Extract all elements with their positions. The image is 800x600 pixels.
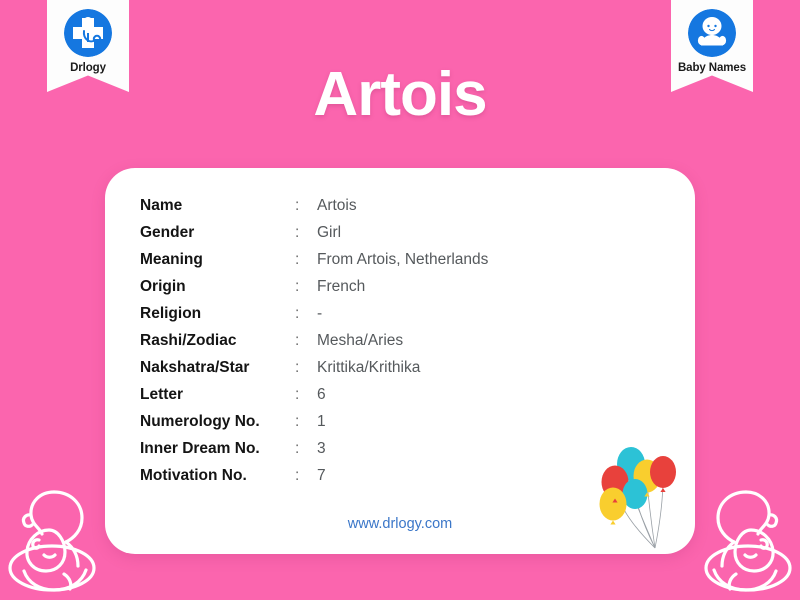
row-label: Inner Dream No.: [140, 435, 295, 462]
row-label: Name: [140, 192, 295, 219]
row-value: Krittika/Krithika: [317, 354, 488, 381]
row-label: Letter: [140, 381, 295, 408]
badge-ribbon-drlogy: Drlogy: [47, 0, 129, 92]
table-row: Letter : 6: [140, 381, 488, 408]
row-colon: :: [295, 408, 317, 435]
row-value: French: [317, 273, 488, 300]
row-label: Religion: [140, 300, 295, 327]
row-colon: :: [295, 300, 317, 327]
table-row: Origin : French: [140, 273, 488, 300]
name-details-table: Name : Artois Gender : Girl Meaning : Fr…: [140, 192, 488, 489]
row-colon: :: [295, 219, 317, 246]
row-value: Mesha/Aries: [317, 327, 488, 354]
row-colon: :: [295, 381, 317, 408]
row-label: Rashi/Zodiac: [140, 327, 295, 354]
row-value: Artois: [317, 192, 488, 219]
badge-label-baby-names: Baby Names: [678, 62, 746, 74]
table-row: Religion : -: [140, 300, 488, 327]
badge-label-drlogy: Drlogy: [70, 62, 106, 74]
row-label: Numerology No.: [140, 408, 295, 435]
row-colon: :: [295, 246, 317, 273]
row-colon: :: [295, 327, 317, 354]
mother-and-baby-line-art-left: [0, 470, 114, 600]
table-row: Numerology No. : 1: [140, 408, 488, 435]
row-value: 6: [317, 381, 488, 408]
badge-drlogy[interactable]: Drlogy: [47, 0, 129, 92]
row-label: Motivation No.: [140, 462, 295, 489]
row-colon: :: [295, 192, 317, 219]
table-row: Inner Dream No. : 3: [140, 435, 488, 462]
row-value: -: [317, 300, 488, 327]
row-colon: :: [295, 462, 317, 489]
row-value: 3: [317, 435, 488, 462]
table-row: Rashi/Zodiac : Mesha/Aries: [140, 327, 488, 354]
badge-baby-names[interactable]: Baby Names: [671, 0, 753, 92]
row-colon: :: [295, 435, 317, 462]
badge-ribbon-baby-names: Baby Names: [671, 0, 753, 92]
row-label: Gender: [140, 219, 295, 246]
balloon-cluster-icon: [595, 444, 691, 554]
table-row: Meaning : From Artois, Netherlands: [140, 246, 488, 273]
table-row: Name : Artois: [140, 192, 488, 219]
row-label: Origin: [140, 273, 295, 300]
row-label: Meaning: [140, 246, 295, 273]
row-colon: :: [295, 354, 317, 381]
row-value: From Artois, Netherlands: [317, 246, 488, 273]
row-value: Girl: [317, 219, 488, 246]
row-value: 1: [317, 408, 488, 435]
baby-icon: [688, 9, 736, 57]
name-details-card: Name : Artois Gender : Girl Meaning : Fr…: [105, 168, 695, 554]
website-url[interactable]: www.drlogy.com: [105, 516, 695, 532]
table-row: Nakshatra/Star : Krittika/Krithika: [140, 354, 488, 381]
row-value: 7: [317, 462, 488, 489]
row-label: Nakshatra/Star: [140, 354, 295, 381]
row-colon: :: [295, 273, 317, 300]
doctor-cross-icon: [64, 9, 112, 57]
table-row: Motivation No. : 7: [140, 462, 488, 489]
mother-and-baby-line-art-right: [686, 470, 800, 600]
table-row: Gender : Girl: [140, 219, 488, 246]
